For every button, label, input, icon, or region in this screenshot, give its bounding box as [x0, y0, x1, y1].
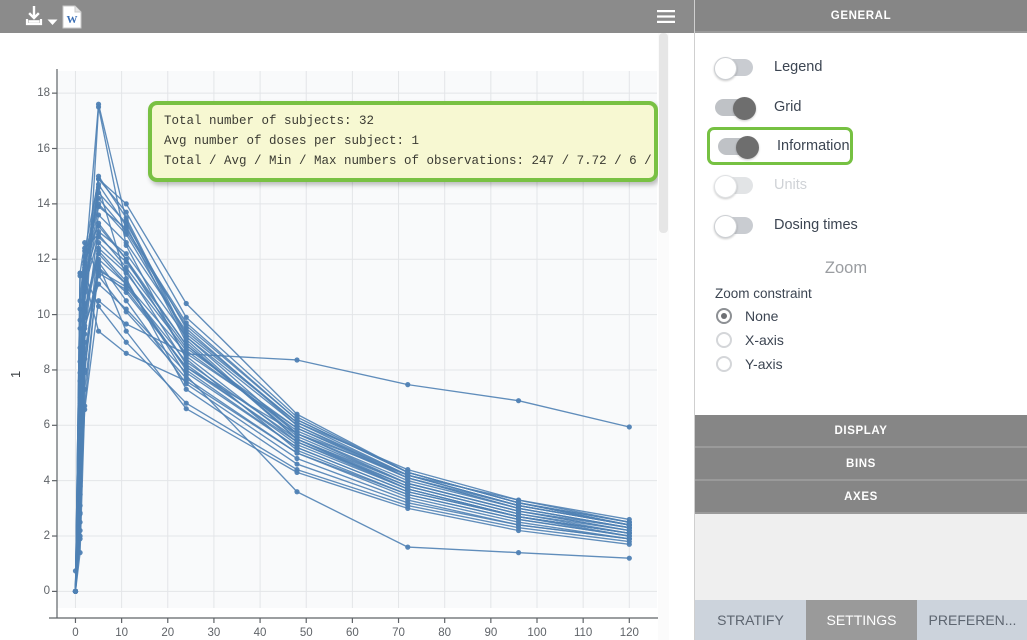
toggle-knob	[736, 136, 759, 159]
toggle-label: Information	[777, 138, 850, 154]
information-box: Total number of subjects: 32 Avg number …	[148, 101, 658, 182]
y-tick-label: 4	[24, 475, 50, 487]
toggle-label: Legend	[774, 59, 822, 75]
application-window: W 01020304050607080901001101200246810121…	[0, 0, 1027, 640]
toggle-row-information[interactable]: Information	[707, 127, 853, 165]
chart-scrollbar-thumb[interactable]	[659, 33, 668, 233]
x-tick-label: 40	[254, 627, 267, 639]
settings-panel: GENERAL LegendGridInformationUnitsDosing…	[694, 0, 1027, 640]
general-section-body: LegendGridInformationUnitsDosing times Z…	[695, 33, 1027, 415]
section-header-display[interactable]: DISPLAY	[695, 415, 1027, 448]
x-tick-label: 80	[438, 627, 451, 639]
radio-button-none[interactable]	[716, 308, 732, 324]
toggle-row-units[interactable]: Units	[695, 165, 1027, 205]
toggle-knob	[714, 215, 737, 238]
toggle-label: Dosing times	[774, 217, 858, 233]
chart-canvas[interactable]: 0102030405060708090100110120024681012141…	[0, 33, 694, 640]
section-header-axes[interactable]: AXES	[695, 481, 1027, 514]
toggle-knob	[714, 57, 737, 80]
toggle-label: Grid	[774, 99, 801, 115]
chart-scrollbar[interactable]	[658, 33, 669, 640]
x-tick-label: 70	[392, 627, 405, 639]
bottom-tab-preferen[interactable]: PREFEREN...	[917, 600, 1027, 640]
zoom-heading: Zoom	[695, 259, 1027, 278]
toggle-list: LegendGridInformationUnitsDosing times	[695, 47, 1027, 245]
toggle-row-dosing-times[interactable]: Dosing times	[695, 205, 1027, 245]
zoom-constraint-label: Zoom constraint	[695, 286, 1027, 301]
x-tick-label: 110	[574, 627, 592, 639]
x-tick-label: 10	[115, 627, 128, 639]
info-line-doses: Avg number of doses per subject: 1	[164, 131, 644, 151]
chart-pane: W 01020304050607080901001101200246810121…	[0, 0, 694, 640]
panel-empty-area	[695, 514, 1027, 602]
radio-row-y-axis[interactable]: Y-axis	[695, 352, 1027, 376]
bottom-tab-bar: STRATIFYSETTINGSPREFEREN...	[695, 600, 1027, 640]
toggle-label: Units	[774, 177, 807, 193]
toggle-row-legend[interactable]: Legend	[695, 47, 1027, 87]
x-tick-label: 60	[346, 627, 359, 639]
radio-label: None	[745, 308, 778, 324]
x-tick-label: 20	[161, 627, 174, 639]
hamburger-menu-icon[interactable]	[657, 9, 675, 29]
bottom-tab-stratify[interactable]: STRATIFY	[695, 600, 806, 640]
y-tick-label: 12	[24, 253, 50, 265]
bottom-tab-settings[interactable]: SETTINGS	[806, 600, 917, 640]
y-axis-title: 1	[8, 371, 23, 378]
x-tick-label: 50	[300, 627, 313, 639]
toggle-row-grid[interactable]: Grid	[695, 87, 1027, 127]
toggle-switch-legend[interactable]	[715, 59, 753, 76]
info-line-subjects: Total number of subjects: 32	[164, 111, 644, 131]
section-header-general[interactable]: GENERAL	[695, 0, 1027, 33]
info-line-observations: Total / Avg / Min / Max numbers of obser…	[164, 151, 644, 171]
radio-label: X-axis	[745, 332, 784, 348]
radio-row-none[interactable]: None	[695, 304, 1027, 328]
download-icon[interactable]	[24, 6, 44, 32]
radio-row-x-axis[interactable]: X-axis	[695, 328, 1027, 352]
x-tick-label: 120	[620, 627, 639, 639]
x-tick-label: 90	[484, 627, 497, 639]
chart-toolbar: W	[0, 0, 694, 33]
toggle-switch-dosing-times[interactable]	[715, 217, 753, 234]
x-tick-label: 0	[72, 627, 78, 639]
y-tick-label: 16	[24, 143, 50, 155]
y-tick-label: 6	[24, 419, 50, 431]
y-tick-label: 18	[24, 87, 50, 99]
y-tick-label: 10	[24, 309, 50, 321]
toggle-switch-grid[interactable]	[715, 99, 753, 116]
radio-button-x-axis[interactable]	[716, 332, 732, 348]
toggle-switch-information[interactable]	[718, 138, 756, 155]
toggle-knob	[714, 175, 737, 198]
y-tick-label: 0	[24, 585, 50, 597]
collapsed-sections: DISPLAYBINSAXES	[695, 415, 1027, 514]
x-tick-label: 100	[527, 627, 546, 639]
chevron-down-icon[interactable]	[47, 13, 58, 31]
y-tick-label: 14	[24, 198, 50, 210]
word-document-icon[interactable]: W	[62, 5, 82, 34]
word-icon-letter: W	[67, 14, 78, 26]
radio-button-y-axis[interactable]	[716, 356, 732, 372]
zoom-constraint-radio-group: NoneX-axisY-axis	[695, 304, 1027, 376]
y-tick-label: 2	[24, 530, 50, 542]
y-tick-label: 8	[24, 364, 50, 376]
radio-label: Y-axis	[745, 356, 783, 372]
toggle-knob	[733, 97, 756, 120]
toggle-switch-units	[715, 177, 753, 194]
section-header-bins[interactable]: BINS	[695, 448, 1027, 481]
x-tick-label: 30	[208, 627, 221, 639]
